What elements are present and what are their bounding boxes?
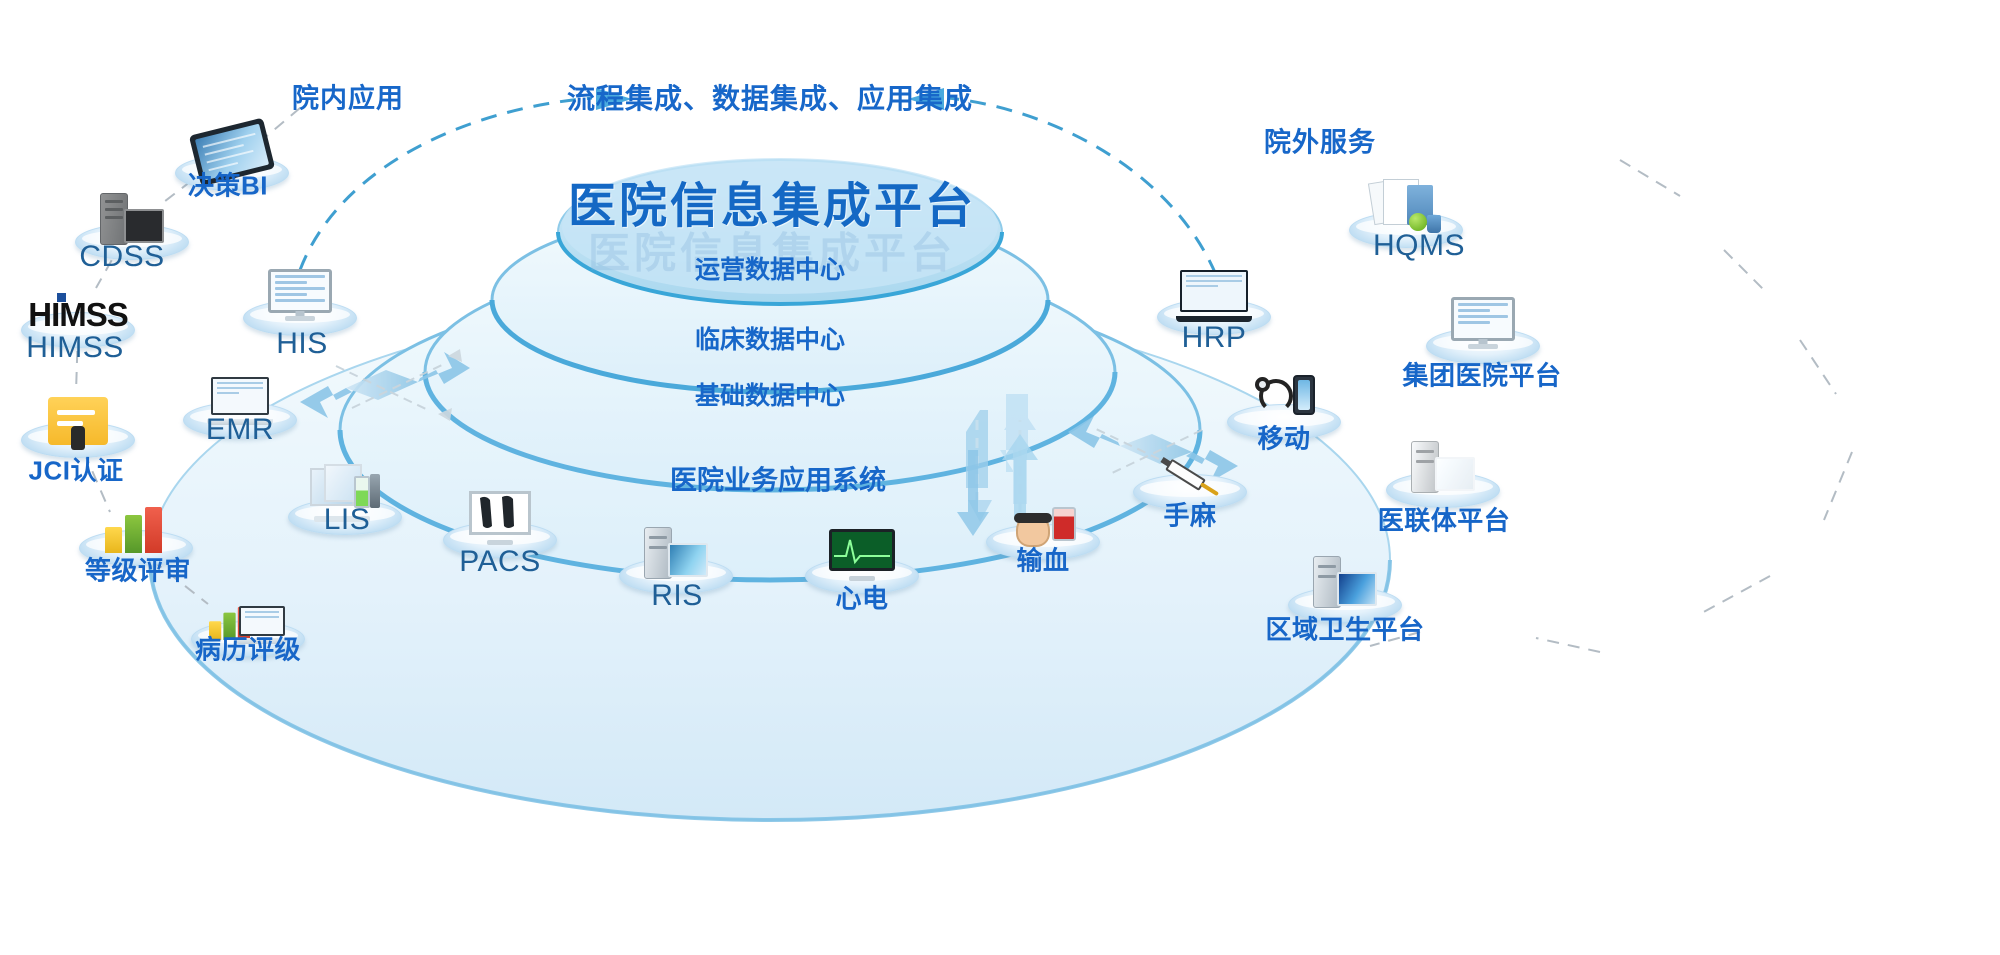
- node-label-decision-bi: 决策BI: [188, 166, 268, 203]
- node-label-regional-health: 区域卫生平台: [1265, 610, 1424, 647]
- node-label-emr: EMR: [206, 413, 274, 447]
- node-label-anesthesia: 手麻: [1163, 496, 1216, 533]
- diagram-canvas: 院内应用 院外服务 流程集成、数据集成、应用集成 医院信息集成平台 医院信息集成…: [0, 0, 2000, 955]
- node-jci[interactable]: [18, 362, 138, 458]
- server-rack-icon: [89, 173, 175, 247]
- stethoscope-phone-icon: [1241, 353, 1327, 427]
- laptop-dark-icon: [1171, 248, 1257, 322]
- xray-monitor-icon: [457, 471, 543, 545]
- ring-label-bdr: 基础数据中心: [695, 376, 845, 412]
- ring-label-odr: 运营数据中心: [695, 250, 845, 286]
- node-label-hqms: HQMS: [1373, 229, 1465, 263]
- desktop-monitor-icon: [257, 249, 343, 323]
- node-label-transfusion: 输血: [1016, 541, 1069, 578]
- node-label-lis: LIS: [324, 503, 371, 537]
- node-label-mobile: 移动: [1257, 419, 1310, 456]
- node-label-ris: RIS: [651, 579, 703, 613]
- node-group-hospital[interactable]: [1423, 268, 1543, 364]
- node-pacs[interactable]: [440, 462, 560, 558]
- business-layer-label: 医院业务应用系统: [670, 459, 886, 498]
- node-label-group-hospital: 集团医院平台: [1402, 356, 1561, 393]
- node-label-pacs: PACS: [459, 545, 540, 579]
- ring-cdr: [425, 254, 1115, 490]
- node-label-himss: HIMSS: [26, 331, 124, 365]
- syringe-icon: [1147, 423, 1233, 497]
- server-monitor-icon: [633, 507, 719, 581]
- ecg-monitor-icon: [819, 507, 905, 581]
- flow-integration-label: 流程集成、数据集成、应用集成: [567, 77, 973, 117]
- certificate-seal-icon: [35, 371, 121, 445]
- monitor-blue-icon: [1302, 536, 1388, 610]
- section-header-left: 院内应用: [292, 77, 404, 116]
- bar-chart-icon: [93, 479, 179, 553]
- monitor-light-icon: [1440, 277, 1526, 351]
- node-label-grade-review: 等级评审: [85, 551, 191, 588]
- node-label-record-rating: 病历评级: [195, 630, 301, 667]
- ring-label-cdr: 临床数据中心: [695, 320, 845, 356]
- himss-logo-icon: HIMSS: [23, 261, 133, 335]
- node-label-ecg: 心电: [835, 579, 888, 616]
- blood-bag-icon: [1000, 473, 1086, 547]
- node-his[interactable]: [240, 240, 360, 336]
- documents-icon: [1363, 161, 1449, 235]
- node-medical-union[interactable]: [1383, 412, 1503, 508]
- monitor-pc-icon: [1400, 421, 1486, 495]
